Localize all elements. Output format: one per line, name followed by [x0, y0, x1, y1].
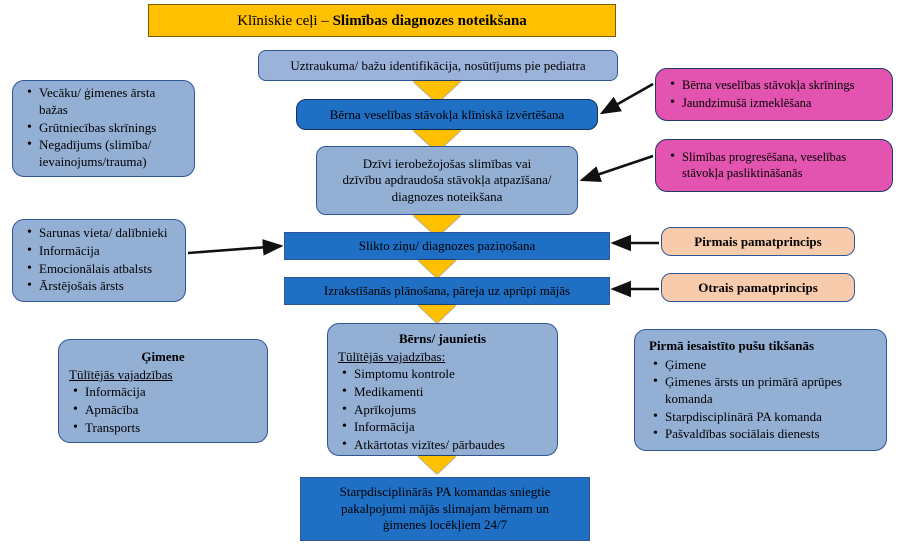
flowchart-canvas: Klīniskie ceļi – Slimības diagnozes note… — [0, 0, 900, 546]
connector-principle2-to-step5 — [0, 0, 900, 546]
